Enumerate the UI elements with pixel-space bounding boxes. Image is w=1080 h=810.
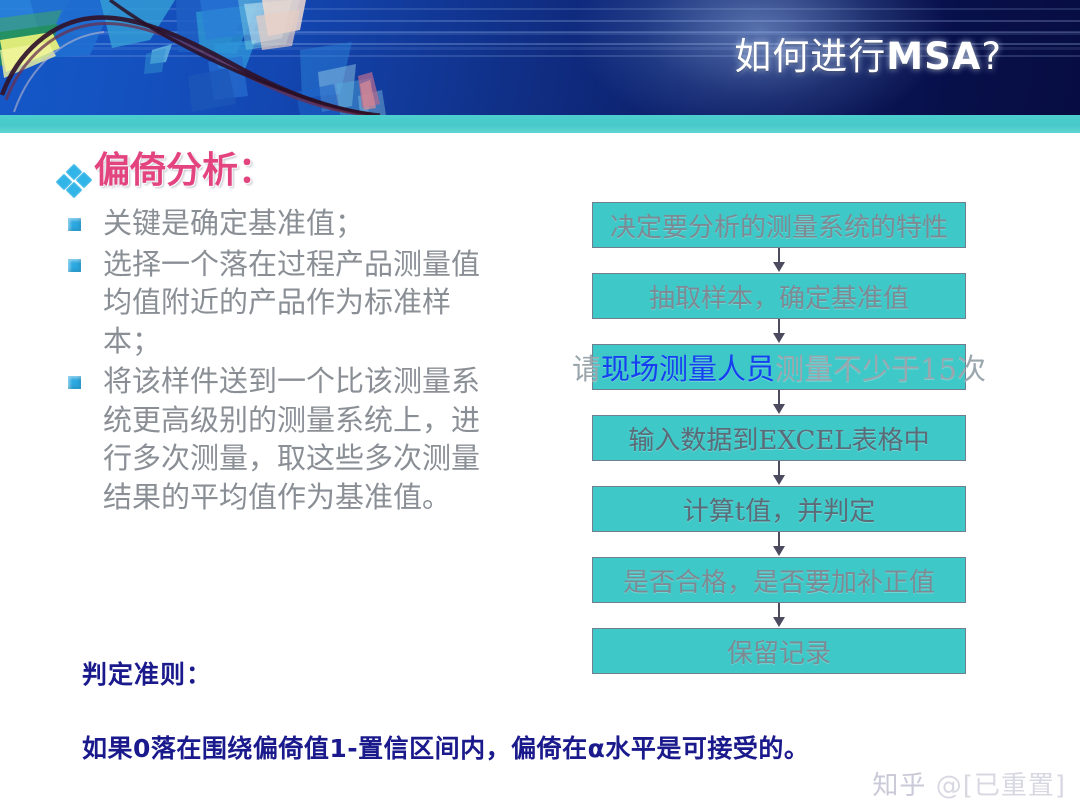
page-title-cn: 如何进行 xyxy=(734,35,886,78)
flow-arrow-4 xyxy=(592,461,966,486)
header-accent-band xyxy=(0,115,1080,133)
arrow-down-icon xyxy=(772,603,786,628)
watermark-site: 知乎 xyxy=(872,771,926,801)
flow-arrow-2 xyxy=(592,319,966,344)
flow-arrow-6 xyxy=(592,603,966,628)
flow-step-2: 抽取样本，确定基准值 xyxy=(592,273,966,319)
arrow-down-icon xyxy=(772,319,786,344)
flow-step-6: 是否合格，是否要加补正值 xyxy=(592,557,966,603)
page-title-en: MSA xyxy=(886,35,981,78)
flow-step-1: 决定要分析的测量系统的特性 xyxy=(592,202,966,248)
list-item-label: 将该样件送到一个比该测量系统更高级别的测量系统上，进行多次测量，取这些多次测量结… xyxy=(103,362,495,516)
list-item: 关键是确定基准值； xyxy=(56,204,566,243)
watermark-user: @[已重置] xyxy=(936,771,1066,801)
list-item: 将该样件送到一个比该测量系统更高级别的测量系统上，进行多次测量，取这些多次测量结… xyxy=(56,362,566,516)
arrow-down-icon xyxy=(772,461,786,486)
flow-step-label: 输入数据到EXCEL表格中 xyxy=(628,420,929,457)
section-title-row: 偏倚分析： xyxy=(56,152,566,198)
list-item: 选择一个落在过程产品测量值均值附近的产品作为标准样本； xyxy=(56,245,566,361)
flow-arrow-1 xyxy=(592,248,966,273)
watermark: 知乎 @[已重置] xyxy=(872,765,1066,802)
square-bullet-icon xyxy=(68,259,81,272)
flow-step-label-post: 测量不少于15次 xyxy=(775,352,986,386)
abstract-shapes-icon xyxy=(0,0,420,115)
flow-step-label-highlight: 现场测量人员 xyxy=(601,352,775,386)
square-bullet-icon xyxy=(68,218,81,231)
arrow-down-icon xyxy=(772,248,786,273)
page-title: 如何进行MSA? xyxy=(734,38,1002,75)
flow-step-label-pre: 请 xyxy=(572,352,601,386)
list-item-label: 选择一个落在过程产品测量值均值附近的产品作为标准样本； xyxy=(103,245,495,361)
flow-step-7: 保留记录 xyxy=(592,628,966,674)
flow-step-label: 保留记录 xyxy=(727,633,831,670)
flow-step-label: 请现场测量人员测量不少于15次 xyxy=(572,346,986,388)
page-title-mark: ? xyxy=(981,35,1002,78)
flow-arrow-5 xyxy=(592,532,966,557)
left-content-column: 偏倚分析： 关键是确定基准值； 选择一个落在过程产品测量值均值附近的产品作为标准… xyxy=(56,152,566,519)
list-item-label: 关键是确定基准值； xyxy=(103,204,364,243)
flow-step-4: 输入数据到EXCEL表格中 xyxy=(592,415,966,461)
flow-step-5: 计算t值，并判定 xyxy=(592,486,966,532)
square-bullet-icon xyxy=(68,376,81,389)
arrow-down-icon xyxy=(772,390,786,415)
flow-step-label: 计算t值，并判定 xyxy=(683,491,875,528)
banner-decorative-art xyxy=(0,0,420,115)
flow-step-3: 请现场测量人员测量不少于15次 xyxy=(592,344,966,390)
diamond-bullet-icon xyxy=(56,164,92,198)
flowchart: 决定要分析的测量系统的特性 抽取样本，确定基准值 请现场测量人员测量不少于15次 xyxy=(592,202,966,674)
bullet-list: 关键是确定基准值； 选择一个落在过程产品测量值均值附近的产品作为标准样本； 将该… xyxy=(56,204,566,517)
flow-step-label: 决定要分析的测量系统的特性 xyxy=(610,207,948,244)
arrow-down-icon xyxy=(772,532,786,557)
slide: 如何进行MSA? 偏倚分析： 关键是确定基准值； 选择一个落在过程产品测量值均值… xyxy=(0,0,1080,810)
flow-arrow-3 xyxy=(592,390,966,415)
flow-step-label: 抽取样本，确定基准值 xyxy=(649,278,909,315)
section-title: 偏倚分析： xyxy=(94,152,274,190)
flow-step-label: 是否合格，是否要加补正值 xyxy=(623,562,935,599)
criteria-text: 如果0落在围绕偏倚值1-置信区间内，偏倚在α水平是可接受的。 xyxy=(82,729,982,765)
header-banner: 如何进行MSA? xyxy=(0,0,1080,115)
